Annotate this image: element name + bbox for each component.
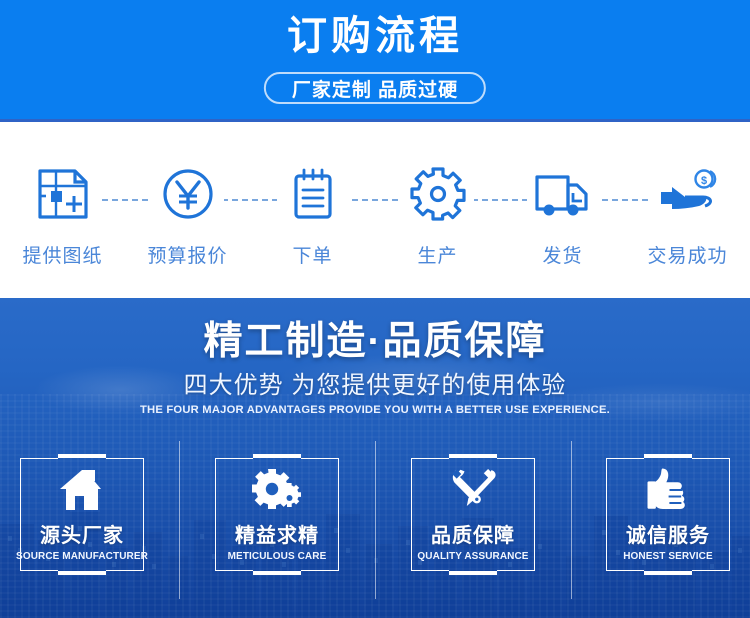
gear-icon xyxy=(402,158,474,230)
thumbs-up-icon xyxy=(645,467,691,513)
gears-icon xyxy=(251,467,303,513)
svg-text:$: $ xyxy=(700,175,706,187)
advantage-card-meticulous-care: 精益求精 METICULOUS CARE xyxy=(215,458,339,571)
flow-step-label: 下单 xyxy=(292,241,332,268)
flow-step-transaction-success: $ 交易成功 xyxy=(625,125,750,298)
advantage-card-title: 诚信服务 xyxy=(626,519,710,548)
advantage-card-quality-assurance: 品质保障 QUALITY ASSURANCE xyxy=(411,458,535,571)
advantages-subtitle-english: THE FOUR MAJOR ADVANTAGES PROVIDE YOU WI… xyxy=(0,404,750,416)
advantage-card-honest-service: 诚信服务 HONEST SERVICE xyxy=(606,458,730,571)
flow-step-provide-drawing: 提供图纸 xyxy=(0,125,125,298)
advantage-card-title-english: SOURCE MANUFACTURER xyxy=(16,551,148,562)
advantage-card-title: 品质保障 xyxy=(431,519,515,548)
banner-title: 订购流程 xyxy=(0,12,750,60)
advantage-card-source-manufacturer: 源头厂家 SOURCE MANUFACTURER xyxy=(20,458,144,571)
promo-page: 订购流程 厂家定制 品质过硬 提供图纸 xyxy=(0,0,750,618)
house-icon xyxy=(57,467,107,513)
truck-icon xyxy=(527,158,599,230)
flow-step-budget-quote: 预算报价 xyxy=(125,125,250,298)
advantages-section: 精工制造·品质保障 四大优势 为您提供更好的使用体验 THE FOUR MAJO… xyxy=(0,298,750,618)
blueprint-icon xyxy=(27,158,99,230)
banner-badge: 厂家定制 品质过硬 xyxy=(264,72,486,104)
wrench-screwdriver-icon xyxy=(447,467,499,513)
flow-step-label: 提供图纸 xyxy=(22,241,102,268)
clipboard-icon xyxy=(277,158,349,230)
hand-coin-icon: $ xyxy=(652,158,724,230)
yen-circle-icon xyxy=(152,158,224,230)
flow-step-label: 生产 xyxy=(417,241,457,268)
order-process-flow: 提供图纸 预算报价 xyxy=(0,125,750,298)
flow-step-label: 预算报价 xyxy=(147,241,227,268)
advantages-title: 精工制造·品质保障 xyxy=(0,319,750,365)
flow-step-label: 交易成功 xyxy=(647,241,727,268)
flow-step-production: 生产 xyxy=(375,125,500,298)
card-divider-1 xyxy=(179,441,180,599)
advantage-card-title: 源头厂家 xyxy=(40,519,124,548)
advantage-card-title: 精益求精 xyxy=(235,519,319,548)
flow-step-place-order: 下单 xyxy=(250,125,375,298)
advantage-card-title-english: METICULOUS CARE xyxy=(228,551,327,562)
order-process-banner: 订购流程 厂家定制 品质过硬 xyxy=(0,0,750,122)
flow-step-label: 发货 xyxy=(542,241,582,268)
advantage-card-title-english: HONEST SERVICE xyxy=(623,551,713,562)
flow-step-list: 提供图纸 预算报价 xyxy=(0,125,750,298)
advantages-subtitle: 四大优势 为您提供更好的使用体验 xyxy=(0,371,750,401)
card-divider-2 xyxy=(375,441,376,599)
advantages-card-list: 源头厂家 SOURCE MANUFACTURER xyxy=(0,438,750,618)
flow-step-shipping: 发货 xyxy=(500,125,625,298)
advantage-card-title-english: QUALITY ASSURANCE xyxy=(417,551,528,562)
card-divider-3 xyxy=(571,441,572,599)
